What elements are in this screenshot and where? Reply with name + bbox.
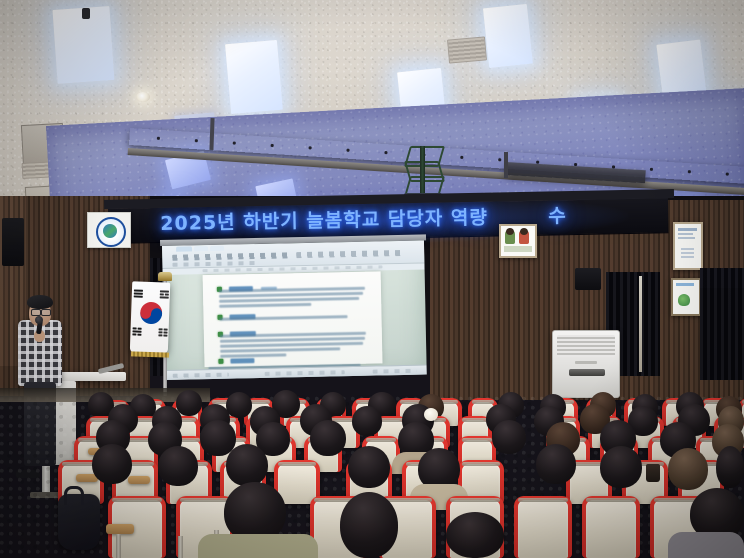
green-clover-poster — [671, 278, 701, 316]
taeguk-symbol — [140, 302, 163, 325]
hwp-ribbon-icons[interactable] — [172, 261, 260, 267]
seat — [582, 496, 640, 558]
curtain-valance — [700, 268, 744, 288]
seat-leg — [116, 534, 121, 558]
ceiling-sensor — [82, 8, 90, 19]
poster-caption — [504, 246, 532, 252]
trigram-geon — [134, 289, 143, 298]
cartoon-children-poster — [499, 224, 537, 258]
attendee-head — [224, 482, 286, 542]
attendee-shoulders — [198, 534, 318, 558]
projection-screen[interactable] — [162, 241, 427, 380]
ceiling-air-vent — [447, 36, 487, 63]
ceiling-downlight — [136, 92, 150, 102]
seat-armrest — [106, 524, 134, 534]
hwp-ribbon-icons[interactable] — [172, 252, 290, 260]
ceiling-light-panel — [225, 40, 283, 114]
hwp-document-page — [203, 271, 383, 367]
hwp-ribbon-tab[interactable] — [210, 246, 224, 251]
emblem-plaque — [87, 212, 131, 248]
korean-national-flag — [130, 281, 170, 354]
auditorium-photo: 2025년 하반기 늘봄학교 담당자 역량 수 — [0, 0, 744, 558]
presenter-beret — [27, 295, 53, 309]
framed-certificate — [673, 222, 703, 270]
green-bullet-icon — [218, 359, 223, 364]
ceiling-light-panel — [483, 4, 533, 68]
doc-body-1 — [219, 287, 365, 310]
hwp-ribbon-icons[interactable] — [296, 250, 404, 258]
seat — [514, 496, 572, 558]
attendee-shoulders — [668, 532, 744, 558]
microphone-head-icon — [35, 316, 43, 324]
poster-figure-head — [520, 228, 528, 235]
presenter-glasses-left — [31, 309, 41, 316]
wall-speaker-left — [2, 218, 24, 266]
poster-figure-head — [506, 228, 514, 235]
trigram-gon — [158, 328, 167, 337]
trigram-ri — [160, 290, 169, 299]
attendee-head — [446, 512, 504, 558]
flag-pole-finial — [158, 272, 172, 281]
air-conditioner — [552, 330, 620, 398]
hair-scrunchie — [424, 408, 438, 421]
truss-hanger-rod — [504, 152, 508, 178]
seat-leg — [178, 536, 183, 558]
hwp-ribbon-tab[interactable] — [194, 246, 208, 251]
section-heading-4 — [231, 358, 255, 364]
hwp-ribbon-tab[interactable] — [176, 246, 192, 251]
wall-speaker-right — [575, 268, 601, 290]
curtain-light-gap — [639, 276, 642, 372]
office-of-education-emblem-icon — [96, 217, 126, 247]
curtain-far-right — [700, 276, 744, 380]
led-banner-text-tail: 수 — [548, 205, 567, 228]
presenter-glasses-right — [41, 309, 51, 316]
attendee-head — [340, 492, 398, 558]
trigram-gam — [132, 327, 141, 336]
backpack-strap — [64, 486, 84, 505]
